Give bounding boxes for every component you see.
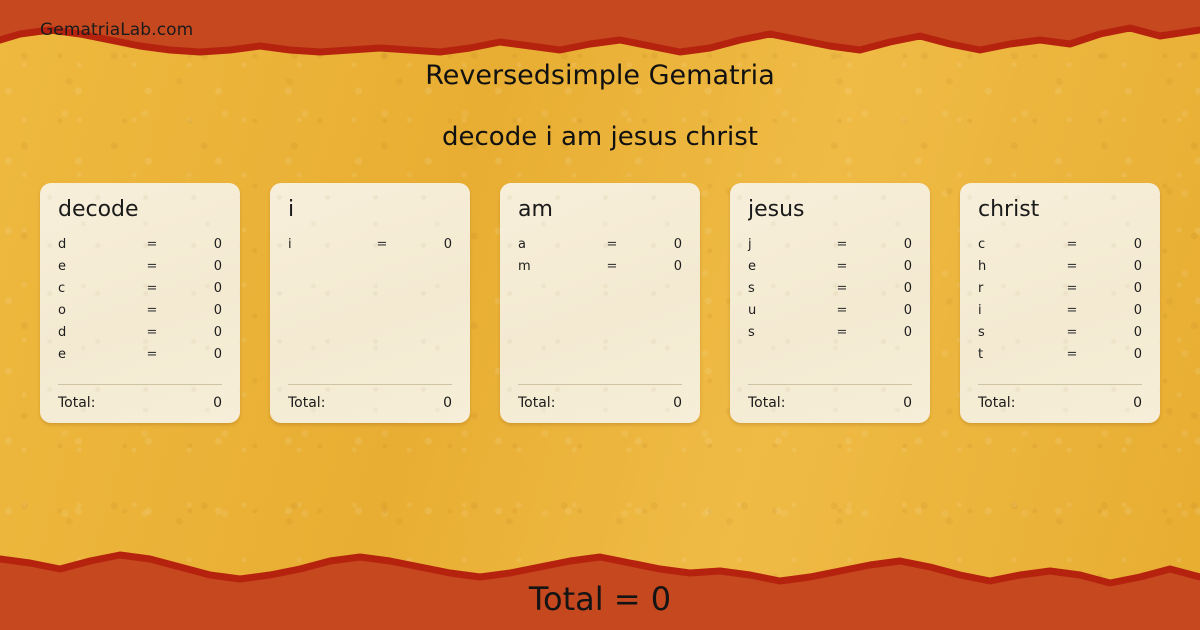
letter-value: 0 (1092, 237, 1142, 252)
equals-sign: = (1052, 281, 1092, 296)
letter-row: i=0 (288, 237, 452, 259)
page-canvas: GematriaLab.com Reversedsimple Gematria … (0, 0, 1200, 630)
letter-value: 0 (632, 259, 682, 274)
letter-row: o=0 (58, 303, 222, 325)
card-total-row: Total:0 (288, 395, 452, 411)
equals-sign: = (132, 281, 172, 296)
card-divider (748, 384, 912, 385)
equals-sign: = (1052, 259, 1092, 274)
letter-row: c=0 (58, 281, 222, 303)
equals-sign: = (132, 259, 172, 274)
letter-value: 0 (862, 303, 912, 318)
card-divider (978, 384, 1142, 385)
letter-label: r (978, 281, 1052, 296)
site-logo[interactable]: GematriaLab.com (40, 20, 193, 40)
card-total-value: 0 (213, 395, 222, 411)
letter-label: d (58, 237, 132, 252)
letter-value: 0 (1092, 259, 1142, 274)
card-total-value: 0 (903, 395, 912, 411)
letter-row: e=0 (748, 259, 912, 281)
letter-value: 0 (862, 259, 912, 274)
letter-value: 0 (402, 237, 452, 252)
letter-value: 0 (172, 259, 222, 274)
letter-row: t=0 (978, 347, 1142, 369)
letter-row: s=0 (978, 325, 1142, 347)
card-total-value: 0 (673, 395, 682, 411)
equals-sign: = (822, 303, 862, 318)
word-card: jesusj=0e=0s=0u=0s=0Total:0 (730, 183, 930, 423)
letter-row: m=0 (518, 259, 682, 281)
equals-sign: = (1052, 347, 1092, 362)
letter-row: c=0 (978, 237, 1142, 259)
page-title: Reversedsimple Gematria (0, 60, 1200, 91)
letter-row-list: i=0 (288, 237, 452, 259)
word-card-footer: Total:0 (978, 384, 1142, 411)
word-card-list: decoded=0e=0c=0o=0d=0e=0Total:0ii=0Total… (40, 183, 1160, 423)
word-card-title: i (288, 199, 452, 221)
card-total-label: Total: (748, 395, 903, 411)
letter-label: h (978, 259, 1052, 274)
equals-sign: = (132, 347, 172, 362)
letter-row: d=0 (58, 237, 222, 259)
card-total-value: 0 (1133, 395, 1142, 411)
letter-value: 0 (172, 325, 222, 340)
letter-row: a=0 (518, 237, 682, 259)
letter-value: 0 (1092, 325, 1142, 340)
page-subtitle: decode i am jesus christ (0, 122, 1200, 152)
letter-label: i (978, 303, 1052, 318)
letter-row-list: j=0e=0s=0u=0s=0 (748, 237, 912, 347)
card-divider (58, 384, 222, 385)
letter-label: i (288, 237, 362, 252)
grand-total: Total = 0 (0, 580, 1200, 618)
word-card-title: jesus (748, 199, 912, 221)
card-total-label: Total: (518, 395, 673, 411)
letter-row: s=0 (748, 281, 912, 303)
word-card: christc=0h=0r=0i=0s=0t=0Total:0 (960, 183, 1160, 423)
card-total-row: Total:0 (748, 395, 912, 411)
card-total-row: Total:0 (518, 395, 682, 411)
equals-sign: = (822, 281, 862, 296)
letter-label: o (58, 303, 132, 318)
letter-value: 0 (862, 237, 912, 252)
equals-sign: = (822, 325, 862, 340)
letter-row-list: c=0h=0r=0i=0s=0t=0 (978, 237, 1142, 369)
letter-label: c (978, 237, 1052, 252)
letter-row: r=0 (978, 281, 1142, 303)
equals-sign: = (362, 237, 402, 252)
word-card-footer: Total:0 (288, 384, 452, 411)
card-total-label: Total: (288, 395, 443, 411)
equals-sign: = (1052, 237, 1092, 252)
letter-label: u (748, 303, 822, 318)
equals-sign: = (1052, 325, 1092, 340)
letter-value: 0 (172, 347, 222, 362)
letter-label: e (58, 347, 132, 362)
letter-value: 0 (172, 281, 222, 296)
letter-label: d (58, 325, 132, 340)
letter-row: s=0 (748, 325, 912, 347)
letter-row: u=0 (748, 303, 912, 325)
letter-label: s (748, 325, 822, 340)
card-divider (518, 384, 682, 385)
letter-value: 0 (632, 237, 682, 252)
equals-sign: = (592, 237, 632, 252)
letter-label: j (748, 237, 822, 252)
word-card-footer: Total:0 (58, 384, 222, 411)
word-card: ii=0Total:0 (270, 183, 470, 423)
letter-value: 0 (1092, 347, 1142, 362)
word-card: decoded=0e=0c=0o=0d=0e=0Total:0 (40, 183, 240, 423)
letter-row-list: a=0m=0 (518, 237, 682, 281)
equals-sign: = (822, 237, 862, 252)
letter-label: t (978, 347, 1052, 362)
letter-row: e=0 (58, 259, 222, 281)
letter-label: s (748, 281, 822, 296)
card-total-row: Total:0 (978, 395, 1142, 411)
letter-label: e (748, 259, 822, 274)
letter-row: h=0 (978, 259, 1142, 281)
equals-sign: = (132, 325, 172, 340)
word-card-title: am (518, 199, 682, 221)
word-card-footer: Total:0 (748, 384, 912, 411)
letter-label: m (518, 259, 592, 274)
letter-label: a (518, 237, 592, 252)
word-card-title: christ (978, 199, 1142, 221)
card-total-label: Total: (58, 395, 213, 411)
equals-sign: = (822, 259, 862, 274)
equals-sign: = (132, 237, 172, 252)
letter-row: i=0 (978, 303, 1142, 325)
equals-sign: = (592, 259, 632, 274)
word-card: ama=0m=0Total:0 (500, 183, 700, 423)
letter-value: 0 (1092, 281, 1142, 296)
word-card-footer: Total:0 (518, 384, 682, 411)
letter-value: 0 (862, 325, 912, 340)
letter-row-list: d=0e=0c=0o=0d=0e=0 (58, 237, 222, 369)
letter-label: s (978, 325, 1052, 340)
letter-value: 0 (862, 281, 912, 296)
card-total-value: 0 (443, 395, 452, 411)
letter-value: 0 (172, 237, 222, 252)
equals-sign: = (132, 303, 172, 318)
card-total-label: Total: (978, 395, 1133, 411)
letter-label: c (58, 281, 132, 296)
letter-value: 0 (1092, 303, 1142, 318)
card-divider (288, 384, 452, 385)
letter-label: e (58, 259, 132, 274)
letter-row: e=0 (58, 347, 222, 369)
letter-row: d=0 (58, 325, 222, 347)
word-card-title: decode (58, 199, 222, 221)
card-total-row: Total:0 (58, 395, 222, 411)
equals-sign: = (1052, 303, 1092, 318)
letter-row: j=0 (748, 237, 912, 259)
letter-value: 0 (172, 303, 222, 318)
